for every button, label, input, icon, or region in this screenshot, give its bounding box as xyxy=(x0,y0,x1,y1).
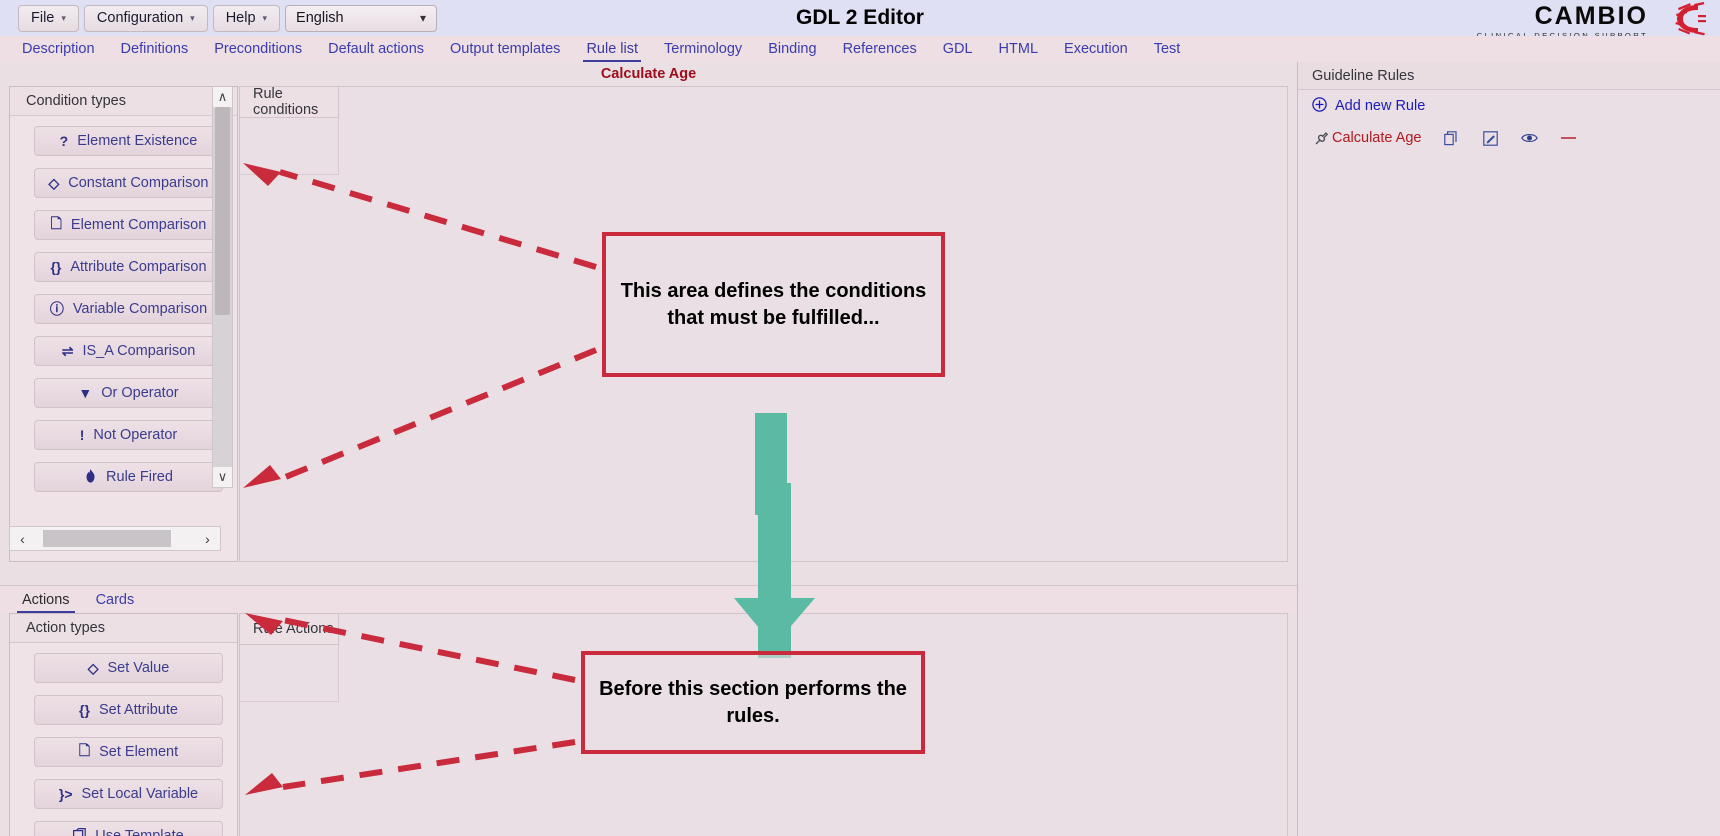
condition-type-variable-comparison[interactable]: ⓘ Variable Comparison xyxy=(34,294,223,324)
scroll-right-button[interactable]: › xyxy=(195,527,220,550)
remove-minus-icon[interactable] xyxy=(1560,130,1577,147)
actions-tabstrip: Actions Cards xyxy=(0,585,1297,613)
diamond-icon: ◇ xyxy=(48,175,59,192)
tab-label: Preconditions xyxy=(214,41,302,57)
chevron-down-icon: ▾ xyxy=(190,14,195,23)
action-types-list: ◇ Set Value {} Set Attribute 🗋 Set Eleme… xyxy=(10,643,237,836)
tab-label: Output templates xyxy=(450,41,560,57)
scroll-thumb[interactable] xyxy=(43,530,171,547)
rule-actions-canvas[interactable]: Rule Actions xyxy=(239,613,1288,836)
rule-conditions-canvas[interactable]: Rule conditions xyxy=(239,86,1288,562)
chevron-down-icon: ∨ xyxy=(218,469,228,485)
condition-types-horizontal-scrollbar[interactable]: ‹ › xyxy=(9,526,221,551)
rule-actions-dropzone[interactable] xyxy=(240,645,339,702)
tab-label: Description xyxy=(22,41,95,57)
condition-types-header: Condition types xyxy=(10,87,237,116)
condition-type-constant-comparison[interactable]: ◇ Constant Comparison xyxy=(34,168,223,198)
condition-types-panel: Condition types ? Element Existence ◇ Co… xyxy=(9,86,238,562)
guideline-rule-name[interactable]: Calculate Age xyxy=(1332,130,1421,146)
condition-type-label: Constant Comparison xyxy=(68,175,208,191)
pin-icon xyxy=(1310,131,1332,146)
tab-label: Definitions xyxy=(121,41,189,57)
action-type-use-template[interactable]: Use Template xyxy=(34,821,223,836)
tab-html[interactable]: HTML xyxy=(986,36,1051,62)
condition-type-label: Rule Fired xyxy=(106,469,173,485)
guideline-rules-panel: Guideline Rules Add new Rule Calculate A… xyxy=(1297,62,1720,836)
copy-icon[interactable] xyxy=(1443,130,1460,147)
guideline-rule-row: Calculate Age xyxy=(1298,122,1720,154)
action-types-header: Action types xyxy=(10,614,237,643)
tab-rule-list[interactable]: Rule list xyxy=(573,36,651,62)
action-type-label: Set Element xyxy=(99,744,178,760)
tab-label: GDL xyxy=(943,41,973,57)
chevron-right-icon: › xyxy=(205,531,210,547)
document-icon: 🗋 xyxy=(51,213,62,237)
condition-type-label: Element Comparison xyxy=(71,217,206,233)
guideline-rules-header: Guideline Rules xyxy=(1298,62,1720,90)
braces-icon: {} xyxy=(79,702,90,718)
rule-conditions-tab[interactable]: Rule conditions xyxy=(240,87,339,118)
rule-actions-tab[interactable]: Rule Actions xyxy=(240,614,339,645)
menu-file[interactable]: File ▾ xyxy=(18,5,79,32)
action-type-set-value[interactable]: ◇ Set Value xyxy=(34,653,223,683)
action-type-set-element[interactable]: 🗋 Set Element xyxy=(34,737,223,767)
conditions-region: Condition types ? Element Existence ◇ Co… xyxy=(0,86,1297,585)
work-area: Calculate Age Condition types ? Element … xyxy=(0,62,1297,836)
edit-icon[interactable] xyxy=(1482,130,1499,147)
question-mark-icon: ? xyxy=(60,133,69,149)
flame-icon xyxy=(84,469,97,486)
scroll-thumb[interactable] xyxy=(215,107,230,315)
menu-configuration[interactable]: Configuration ▾ xyxy=(84,5,208,32)
tab-label: Test xyxy=(1154,41,1181,57)
condition-type-label: Attribute Comparison xyxy=(70,259,206,275)
gdl-editor-window: File ▾ Configuration ▾ Help ▾ English ▾ … xyxy=(0,0,1720,836)
tab-label: References xyxy=(843,41,917,57)
tab-test[interactable]: Test xyxy=(1141,36,1194,62)
scroll-left-button[interactable]: ‹ xyxy=(10,527,35,550)
rule-conditions-dropzone[interactable] xyxy=(240,118,339,175)
action-type-label: Use Template xyxy=(95,828,183,836)
tab-label: Actions xyxy=(22,592,70,608)
tab-cards[interactable]: Cards xyxy=(83,586,148,613)
tab-default-actions[interactable]: Default actions xyxy=(315,36,437,62)
condition-type-label: Not Operator xyxy=(93,427,177,443)
logo-name: CAMBIO xyxy=(1535,4,1648,29)
action-types-panel: Action types ◇ Set Value {} Set Attribut… xyxy=(9,613,238,836)
scroll-track[interactable] xyxy=(35,527,195,550)
add-new-rule-button[interactable]: Add new Rule xyxy=(1298,90,1720,122)
chevron-down-icon: ▼ xyxy=(78,385,92,401)
condition-type-label: Element Existence xyxy=(77,133,197,149)
condition-type-not-operator[interactable]: ! Not Operator xyxy=(34,420,223,450)
tab-label: Cards xyxy=(96,592,135,608)
plus-circle-icon xyxy=(1312,97,1327,116)
exclamation-icon: ! xyxy=(80,427,85,443)
page-title: Calculate Age xyxy=(0,62,1297,85)
preview-eye-icon[interactable] xyxy=(1521,130,1538,147)
language-select[interactable]: English ▾ xyxy=(285,5,437,32)
condition-types-vertical-scrollbar[interactable]: ∧ ∨ xyxy=(212,86,233,488)
tab-execution[interactable]: Execution xyxy=(1051,36,1141,62)
chevron-up-icon: ∧ xyxy=(218,89,228,105)
tab-preconditions[interactable]: Preconditions xyxy=(201,36,315,62)
tab-gdl[interactable]: GDL xyxy=(930,36,986,62)
language-select-value: English xyxy=(296,10,344,26)
exchange-arrows-icon: ⇌ xyxy=(62,343,74,360)
add-new-rule-label: Add new Rule xyxy=(1335,98,1425,114)
cambio-logo: CAMBIO CLINICAL DECISION SUPPORT xyxy=(1477,2,1708,36)
chevron-left-icon: ‹ xyxy=(20,531,25,547)
menu-configuration-label: Configuration xyxy=(97,10,183,26)
condition-type-label: Or Operator xyxy=(101,385,178,401)
condition-type-attribute-comparison[interactable]: {} Attribute Comparison xyxy=(34,252,223,282)
scroll-track[interactable] xyxy=(213,107,232,467)
condition-type-label: IS_A Comparison xyxy=(82,343,195,359)
tab-references[interactable]: References xyxy=(830,36,930,62)
menu-bar: File ▾ Configuration ▾ Help ▾ English ▾ xyxy=(0,0,1720,36)
condition-type-element-existence[interactable]: ? Element Existence xyxy=(34,126,223,156)
cambio-c-mark-icon xyxy=(1654,2,1708,36)
document-icon: 🗋 xyxy=(79,740,90,764)
action-type-label: Set Attribute xyxy=(99,702,178,718)
tab-label: Rule list xyxy=(586,41,638,57)
menu-group: File ▾ Configuration ▾ Help ▾ English ▾ xyxy=(0,5,437,32)
condition-type-or-operator[interactable]: ▼ Or Operator xyxy=(34,378,223,408)
tab-description[interactable]: Description xyxy=(9,36,108,62)
tab-output-templates[interactable]: Output templates xyxy=(437,36,573,62)
tab-label: Binding xyxy=(768,41,816,57)
tab-label: HTML xyxy=(999,41,1038,57)
tab-definitions[interactable]: Definitions xyxy=(108,36,202,62)
menu-help-label: Help xyxy=(226,10,256,26)
brace-arrow-icon: }> xyxy=(59,786,73,802)
braces-icon: {} xyxy=(50,259,61,275)
tab-label: Default actions xyxy=(328,41,424,57)
template-box-icon xyxy=(73,828,86,836)
chevron-down-icon: ▾ xyxy=(420,12,426,24)
main-tabstrip: Description Definitions Preconditions De… xyxy=(0,36,1720,62)
action-type-label: Set Local Variable xyxy=(82,786,199,802)
tab-terminology[interactable]: Terminology xyxy=(651,36,755,62)
scroll-down-button[interactable]: ∨ xyxy=(213,467,232,487)
action-type-set-attribute[interactable]: {} Set Attribute xyxy=(34,695,223,725)
menu-file-label: File xyxy=(31,10,54,26)
diamond-icon: ◇ xyxy=(88,660,99,677)
logo-text: CAMBIO CLINICAL DECISION SUPPORT xyxy=(1477,4,1648,40)
condition-types-list: ? Element Existence ◇ Constant Compariso… xyxy=(10,116,237,492)
chevron-down-icon: ▾ xyxy=(263,14,268,23)
tab-label: Execution xyxy=(1064,41,1128,57)
tab-binding[interactable]: Binding xyxy=(755,36,829,62)
tab-label: Terminology xyxy=(664,41,742,57)
action-type-label: Set Value xyxy=(107,660,169,676)
condition-type-is-a-comparison[interactable]: ⇌ IS_A Comparison xyxy=(34,336,223,366)
scroll-up-button[interactable]: ∧ xyxy=(213,87,232,107)
question-circle-icon: ⓘ xyxy=(50,299,64,319)
menu-help[interactable]: Help ▾ xyxy=(213,5,280,32)
chevron-down-icon: ▾ xyxy=(61,14,66,23)
action-type-set-local-variable[interactable]: }> Set Local Variable xyxy=(34,779,223,809)
condition-type-label: Variable Comparison xyxy=(73,301,207,317)
actions-region: Action types ◇ Set Value {} Set Attribut… xyxy=(0,613,1297,836)
condition-type-rule-fired[interactable]: Rule Fired xyxy=(34,462,223,492)
condition-type-element-comparison[interactable]: 🗋 Element Comparison xyxy=(34,210,223,240)
guideline-rule-actions xyxy=(1443,130,1577,147)
tab-actions[interactable]: Actions xyxy=(9,586,83,613)
